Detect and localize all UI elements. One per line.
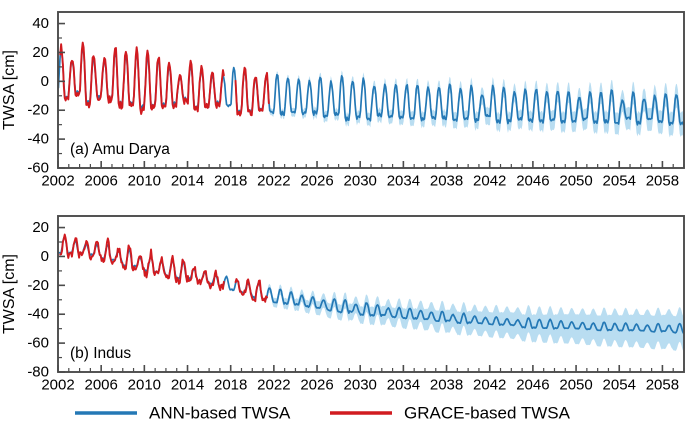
legend: ANN-based TWSAGRACE-based TWSA: [75, 403, 571, 422]
y-tick-label: -40: [27, 131, 49, 148]
x-tick-label: 2030: [344, 172, 377, 189]
y-tick-label: 0: [41, 73, 49, 90]
x-tick-label: 2058: [646, 172, 679, 189]
x-tick-label: 2034: [387, 172, 420, 189]
legend-label-grace: GRACE-based TWSA: [404, 403, 571, 422]
x-tick-label: 2010: [128, 376, 161, 393]
x-tick-label: 2046: [516, 172, 549, 189]
x-tick-label: 2006: [84, 376, 117, 393]
y-tick-label: -20: [27, 102, 49, 119]
y-tick-label: 0: [41, 248, 49, 265]
series-grace-based-twsa: [60, 43, 224, 114]
series-grace-based-twsa: [60, 235, 224, 291]
x-tick-label: 2002: [41, 172, 74, 189]
x-tick-label: 2006: [84, 172, 117, 189]
x-tick-label: 2018: [214, 172, 247, 189]
y-axis-title: TWSA [cm]: [1, 50, 18, 130]
x-tick-label: 2010: [128, 172, 161, 189]
x-tick-label: 2042: [473, 172, 506, 189]
panel-a-amu-darya: 40200-20-40-6020022006201020142018202220…: [1, 12, 684, 189]
x-tick-label: 2002: [41, 376, 74, 393]
panel-b-indus: 200-20-40-60-802002200620102014201820222…: [1, 216, 684, 393]
x-tick-label: 2022: [257, 172, 290, 189]
panel-label: (b) Indus: [70, 345, 131, 362]
x-tick-label: 2018: [214, 376, 247, 393]
x-tick-label: 2054: [603, 376, 636, 393]
x-tick-label: 2050: [559, 172, 592, 189]
y-tick-label: 20: [32, 44, 49, 61]
legend-label-ann: ANN-based TWSA: [149, 403, 291, 422]
x-tick-label: 2046: [516, 376, 549, 393]
x-tick-label: 2058: [646, 376, 679, 393]
y-axis-title: TWSA [cm]: [1, 254, 18, 334]
x-tick-label: 2042: [473, 376, 506, 393]
x-tick-label: 2026: [300, 172, 333, 189]
x-tick-label: 2026: [300, 376, 333, 393]
x-tick-label: 2038: [430, 376, 463, 393]
twsa-timeseries-figure: 40200-20-40-6020022006201020142018202220…: [0, 0, 700, 431]
y-tick-label: -20: [27, 277, 49, 294]
x-tick-label: 2034: [387, 376, 420, 393]
figure-root: 40200-20-40-6020022006201020142018202220…: [0, 0, 700, 431]
x-tick-label: 2014: [171, 172, 204, 189]
y-tick-label: 20: [32, 219, 49, 236]
x-tick-label: 2054: [603, 172, 636, 189]
series-grace-based-twsa: [236, 279, 267, 302]
x-tick-label: 2038: [430, 172, 463, 189]
y-tick-label: -40: [27, 306, 49, 323]
x-tick-label: 2030: [344, 376, 377, 393]
x-tick-label: 2050: [559, 376, 592, 393]
x-tick-label: 2014: [171, 376, 204, 393]
panel-label: (a) Amu Darya: [70, 141, 170, 158]
x-tick-label: 2022: [257, 376, 290, 393]
plot-frame: [58, 216, 684, 372]
y-tick-label: 40: [32, 15, 49, 32]
y-tick-label: -60: [27, 335, 49, 352]
